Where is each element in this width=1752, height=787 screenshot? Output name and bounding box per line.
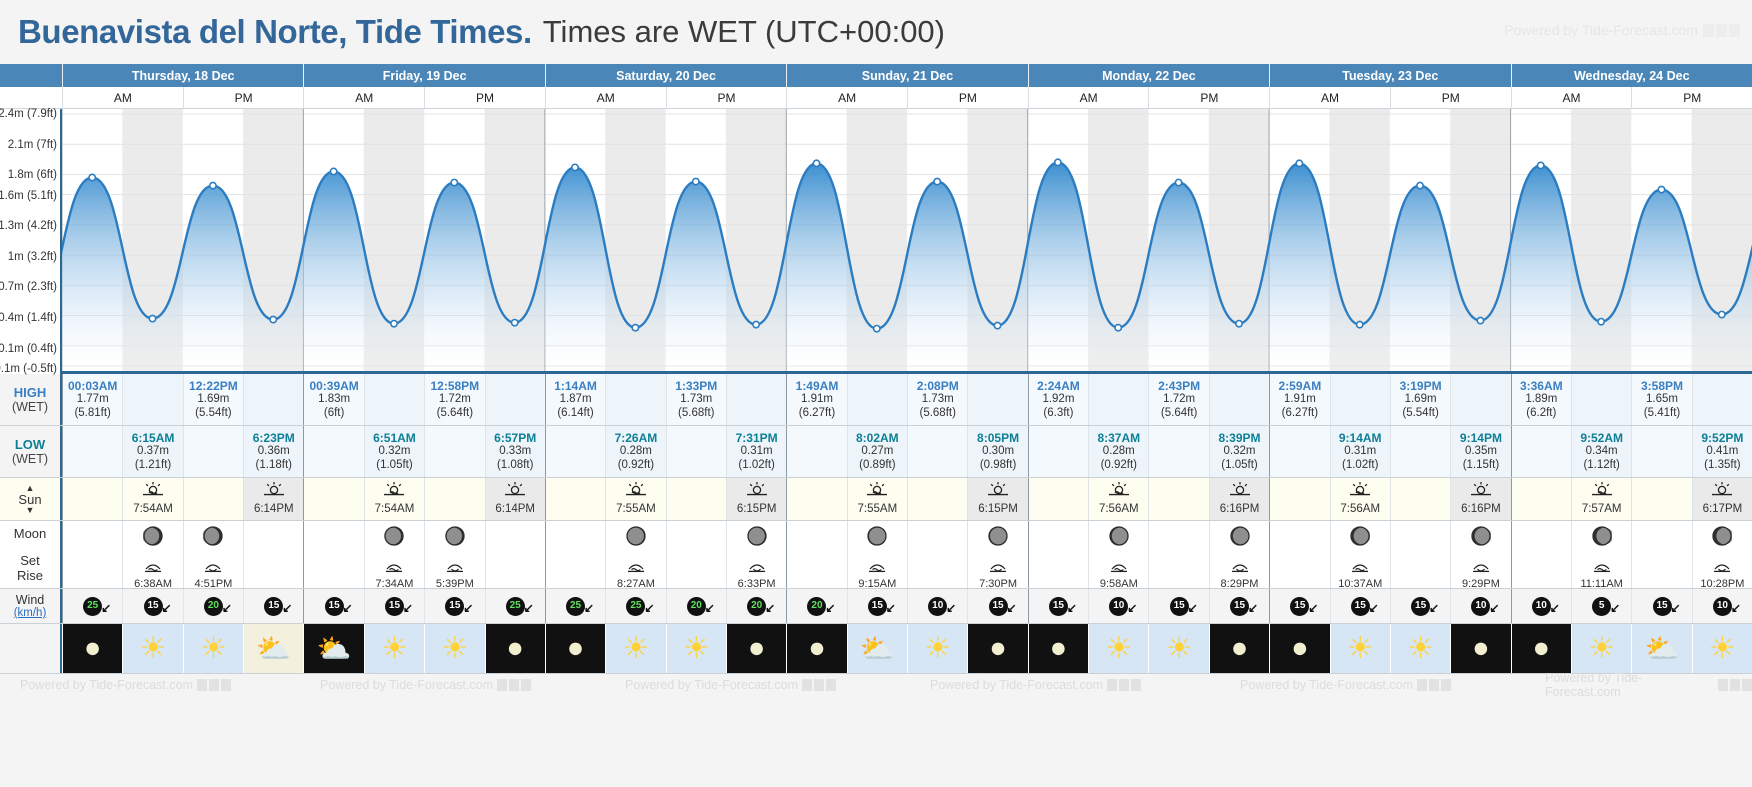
wind-direction-icon: ↙: [161, 601, 171, 615]
moon-cell-16: [1028, 521, 1088, 588]
low-tide-cell-26: [1631, 426, 1691, 477]
day-header-label: Thursday, 18 Dec: [132, 69, 235, 83]
halfday-header-pm-13: PM: [1631, 87, 1752, 108]
weather-cell-24: ●: [1511, 624, 1571, 673]
low-tide-cell-24: [1511, 426, 1571, 477]
low-tide-time: 9:52AM: [1580, 431, 1623, 445]
low-tide-cell-8: [545, 426, 605, 477]
weather-cell-10: ☀: [666, 624, 726, 673]
footer-flag-icons: [1417, 679, 1451, 691]
wind-speed-badge: 15↙: [1653, 597, 1672, 616]
wind-label: Wind (km/h): [0, 589, 62, 623]
low-tide-cell-7: 6:57PM0.33m(1.08ft): [485, 426, 545, 477]
wind-speed-value: 15: [1355, 600, 1366, 612]
low-tide-cell-3: 6:23PM0.36m(1.18ft): [243, 426, 303, 477]
wind-direction-icon: ↙: [1731, 601, 1741, 615]
sun-icon: ☀: [123, 624, 182, 673]
flag-icon: [1131, 679, 1141, 691]
low-tide-feet: (1.18ft): [256, 459, 292, 473]
high-tide-feet: (5.64ft): [1161, 407, 1197, 421]
high-tide-meters: 1.89m: [1525, 393, 1557, 407]
day-header-label: Saturday, 20 Dec: [616, 69, 716, 83]
sun-cell-16: [1028, 478, 1088, 520]
sun-icon: ☀: [908, 624, 967, 673]
low-tide-meters: 0.37m: [137, 445, 169, 459]
high-tide-feet: (5.68ft): [919, 407, 955, 421]
wind-label-text: Wind: [16, 593, 44, 607]
sun-cell-8: [545, 478, 605, 520]
wind-speed-badge: 15↙: [445, 597, 464, 616]
moon-cell-20: [1269, 521, 1329, 588]
weather-cell-18: ☀: [1148, 624, 1208, 673]
wind-direction-icon: ↙: [222, 601, 232, 615]
sunset-icon: [745, 481, 769, 502]
footer-powered-by-text: Powered by Tide-Forecast.com: [20, 678, 193, 692]
flag-icon: [1742, 679, 1752, 691]
low-tide-time: 9:52PM: [1701, 431, 1743, 445]
y-axis-tick-4: 1.3m (4.2ft): [0, 220, 57, 232]
wind-speed-value: 15: [268, 600, 279, 612]
wind-speed-badge: 25↙: [506, 597, 525, 616]
page-title: Buenavista del Norte, Tide Times.: [18, 13, 532, 51]
wind-speed-value: 10: [1717, 600, 1728, 612]
wind-cell-17: 10↙: [1088, 589, 1148, 623]
wind-speed-badge: 20↙: [747, 597, 766, 616]
wind-direction-icon: ↙: [1369, 601, 1379, 615]
wind-speed-badge: 15↙: [1230, 597, 1249, 616]
wind-speed-badge: 15↙: [385, 597, 404, 616]
low-tide-cell-6: [424, 426, 484, 477]
low-tide-meters: 0.27m: [861, 445, 893, 459]
sunset-icon: [503, 481, 527, 502]
wind-direction-icon: ↙: [403, 601, 413, 615]
powered-by-text: Powered by Tide-Forecast.com: [1504, 22, 1698, 38]
high-tide-cell-13: [847, 374, 907, 425]
moon-cell-6: 5:39PM: [424, 521, 484, 588]
flag-icon: [1703, 24, 1714, 37]
wind-cell-20: 15↙: [1269, 589, 1329, 623]
moon-phase-icon: [747, 526, 767, 551]
high-tide-feet: (5.54ft): [1402, 407, 1438, 421]
moon-cell-27: 10:28PM: [1692, 521, 1752, 588]
high-tide-cell-0: 00:03AM1.77m(5.81ft): [62, 374, 122, 425]
wind-cell-13: 15↙: [847, 589, 907, 623]
high-tide-cell-8: 1:14AM1.87m(6.14ft): [545, 374, 605, 425]
halfday-header-am-10: AM: [1269, 87, 1390, 108]
wind-speed-value: 15: [1174, 600, 1185, 612]
y-axis-tick-2: 1.8m (6ft): [8, 169, 57, 181]
high-tide-cell-12: 1:49AM1.91m(6.27ft): [786, 374, 846, 425]
moon-cell-3: [243, 521, 303, 588]
moon-set-icon: [1349, 560, 1371, 578]
low-tide-time: 8:37AM: [1097, 431, 1140, 445]
footer-watermark-3: Powered by Tide-Forecast.com: [930, 678, 1141, 692]
halfday-header-am-2: AM: [303, 87, 424, 108]
wind-direction-icon: ↙: [1550, 601, 1560, 615]
moon-icon: ●: [1029, 624, 1088, 673]
weather-cell-11: ●: [726, 624, 786, 673]
weather-cell-14: ☀: [907, 624, 967, 673]
low-tide-cell-17: 8:37AM0.28m(0.92ft): [1088, 426, 1148, 477]
high-tide-time: 1:49AM: [796, 379, 839, 393]
moon-rise-icon: [1470, 560, 1492, 578]
moon-cell-11: 6:33PM: [726, 521, 786, 588]
weather-cell-5: ☀: [364, 624, 424, 673]
flag-icon: [1417, 679, 1427, 691]
halfday-header-am-4: AM: [545, 87, 666, 108]
flag-icon: [814, 679, 824, 691]
sun-cell-17: 7:56AM: [1088, 478, 1148, 520]
flag-icon: [1107, 679, 1117, 691]
wind-unit-link[interactable]: (km/h): [14, 607, 47, 619]
low-tide-cell-11: 7:31PM0.31m(1.02ft): [726, 426, 786, 477]
high-tide-meters: 1.77m: [77, 393, 109, 407]
low-tide-feet: (1.02ft): [1342, 459, 1378, 473]
low-tide-meters: 0.41m: [1706, 445, 1738, 459]
high-tide-meters: 1.91m: [1284, 393, 1316, 407]
low-tide-row: LOW (WET) 6:15AM0.37m(1.21ft)6:23PM0.36m…: [0, 426, 1752, 478]
flag-icon: [1718, 679, 1728, 691]
sun-time: 7:55AM: [858, 503, 898, 517]
moon-icon: ●: [727, 624, 786, 673]
high-tide-cell-15: [967, 374, 1027, 425]
footer-flag-icons: [497, 679, 531, 691]
low-tide-feet: (1.12ft): [1583, 459, 1619, 473]
weather-cell-17: ☀: [1088, 624, 1148, 673]
chart-y-axis: 2.4m (7.9ft)2.1m (7ft)1.8m (6ft)1.6m (5.…: [0, 109, 62, 374]
wind-direction-icon: ↙: [1127, 601, 1137, 615]
low-tide-feet: (1.02ft): [738, 459, 774, 473]
weather-cell-4: ⛅: [303, 624, 363, 673]
flag-icon: [1730, 679, 1740, 691]
wind-direction-icon: ↙: [584, 601, 594, 615]
halfday-header-am-8: AM: [1028, 87, 1149, 108]
wind-speed-badge: 25↙: [83, 597, 102, 616]
sun-cell-27: 6:17PM: [1692, 478, 1752, 520]
low-tide-meters: 0.31m: [741, 445, 773, 459]
low-tide-time: 8:39PM: [1218, 431, 1260, 445]
halfday-header-pm-3: PM: [424, 87, 545, 108]
footer-powered-by-text: Powered by Tide-Forecast.com: [1545, 671, 1714, 699]
wind-cell-14: 10↙: [907, 589, 967, 623]
wind-speed-badge: 20↙: [687, 597, 706, 616]
low-tide-meters: 0.36m: [258, 445, 290, 459]
moon-phase-icon: [1350, 526, 1370, 551]
low-tide-label: LOW (WET): [0, 426, 62, 477]
wind-cell-12: 20↙: [786, 589, 846, 623]
low-tide-cell-4: [303, 426, 363, 477]
footer-powered-by-text: Powered by Tide-Forecast.com: [930, 678, 1103, 692]
low-tide-cell-18: [1148, 426, 1208, 477]
sun-down-arrow-icon: ▼: [26, 507, 35, 514]
moon-set-label: Set: [20, 553, 40, 568]
wind-direction-icon: ↙: [1610, 601, 1620, 615]
low-tide-meters: 0.35m: [1465, 445, 1497, 459]
y-axis-tick-3: 1.6m (5.1ft): [0, 190, 57, 202]
wind-direction-icon: ↙: [1007, 601, 1017, 615]
sun-cell-23: 6:16PM: [1450, 478, 1510, 520]
high-tide-time: 1:33PM: [675, 379, 717, 393]
moon-phase-icon: [445, 526, 465, 551]
flag-icon: [521, 679, 531, 691]
wind-speed-value: 15: [872, 600, 883, 612]
high-tide-label: HIGH (WET): [0, 374, 62, 425]
wind-speed-value: 5: [1599, 600, 1605, 612]
moon-set-icon: [1108, 560, 1130, 578]
flag-icon: [497, 679, 507, 691]
flag-icon: [1441, 679, 1451, 691]
wind-cell-7: 25↙: [485, 589, 545, 623]
weather-cell-23: ●: [1450, 624, 1510, 673]
sun-cloud-icon: ⛅: [1632, 624, 1691, 673]
wind-speed-badge: 15↙: [144, 597, 163, 616]
sun-time: 6:14PM: [254, 503, 294, 517]
moon-rise-icon: [202, 560, 224, 578]
wind-speed-badge: 15↙: [264, 597, 283, 616]
high-tide-meters: 1.69m: [197, 393, 229, 407]
high-tide-feet: (5.81ft): [74, 407, 110, 421]
sun-cell-19: 6:16PM: [1209, 478, 1269, 520]
low-tide-meters: 0.34m: [1586, 445, 1618, 459]
tide-curve-plot: [62, 109, 1752, 374]
moon-phase-icon: [203, 526, 223, 551]
high-tide-meters: 1.87m: [560, 393, 592, 407]
wind-direction-icon: ↙: [1308, 601, 1318, 615]
low-tide-cell-15: 8:05PM0.30m(0.98ft): [967, 426, 1027, 477]
powered-by-watermark-top: Powered by Tide-Forecast.com: [1504, 22, 1740, 38]
sun-cell-4: [303, 478, 363, 520]
wind-cell-19: 15↙: [1209, 589, 1269, 623]
wind-speed-value: 15: [329, 600, 340, 612]
high-tide-feet: (6.3ft): [1043, 407, 1073, 421]
high-tide-meters: 1.72m: [439, 393, 471, 407]
high-tide-time: 2:24AM: [1037, 379, 1080, 393]
page-header: Buenavista del Norte, Tide Times. Times …: [0, 0, 1752, 64]
moon-cell-21: 10:37AM: [1330, 521, 1390, 588]
high-tide-cell-9: [605, 374, 665, 425]
low-tide-time: 7:26AM: [615, 431, 658, 445]
wind-cell-18: 15↙: [1148, 589, 1208, 623]
tide-forecast-page: Buenavista del Norte, Tide Times. Times …: [0, 0, 1752, 787]
low-tide-label-tz: (WET): [12, 452, 48, 466]
sun-time: 6:17PM: [1703, 503, 1743, 517]
wind-speed-badge: 20↙: [807, 597, 826, 616]
weather-cell-3: ⛅: [243, 624, 303, 673]
wind-direction-icon: ↙: [825, 601, 835, 615]
halfday-header-am-6: AM: [786, 87, 907, 108]
flag-icon: [209, 679, 219, 691]
low-tide-time: 7:31PM: [736, 431, 778, 445]
moon-cell-23: 9:29PM: [1450, 521, 1510, 588]
weather-cell-19: ●: [1209, 624, 1269, 673]
high-tide-cell-1: [122, 374, 182, 425]
day-header-label: Tuesday, 23 Dec: [1342, 69, 1438, 83]
weather-cell-22: ☀: [1390, 624, 1450, 673]
weather-cell-15: ●: [967, 624, 1027, 673]
high-tide-time: 2:43PM: [1158, 379, 1200, 393]
sun-time: 7:55AM: [616, 503, 656, 517]
wind-speed-badge: 15↙: [1049, 597, 1068, 616]
sun-cell-13: 7:55AM: [847, 478, 907, 520]
day-header-label: Wednesday, 24 Dec: [1574, 69, 1690, 83]
sun-time: 7:56AM: [1099, 503, 1139, 517]
high-tide-cell-2: 12:22PM1.69m(5.54ft): [183, 374, 243, 425]
moon-phase-icon: [1592, 526, 1612, 551]
high-tide-time: 3:58PM: [1641, 379, 1683, 393]
footer-flag-icons: [802, 679, 836, 691]
wind-cell-15: 15↙: [967, 589, 1027, 623]
moon-cell-19: 8:29PM: [1209, 521, 1269, 588]
low-tide-feet: (1.08ft): [497, 459, 533, 473]
sun-label: ▲ Sun ▼: [0, 478, 62, 520]
weather-cell-26: ⛅: [1631, 624, 1691, 673]
halfday-header-am-12: AM: [1511, 87, 1632, 108]
low-tide-cell-10: [666, 426, 726, 477]
y-axis-tick-0: 2.4m (7.9ft): [0, 108, 57, 120]
low-tide-meters: 0.31m: [1344, 445, 1376, 459]
wind-cell-4: 15↙: [303, 589, 363, 623]
wind-speed-value: 20: [811, 600, 822, 612]
low-tide-feet: (0.92ft): [1101, 459, 1137, 473]
wind-speed-badge: 15↙: [1290, 597, 1309, 616]
high-tide-cell-26: 3:58PM1.65m(5.41ft): [1631, 374, 1691, 425]
moon-rise-icon: [1711, 560, 1733, 578]
high-tide-feet: (6.14ft): [557, 407, 593, 421]
day-header-4: Monday, 22 Dec: [1028, 64, 1269, 87]
moon-phase-icon: [384, 526, 404, 551]
low-tide-cell-20: [1269, 426, 1329, 477]
low-tide-cell-16: [1028, 426, 1088, 477]
sun-icon: ☀: [1572, 624, 1631, 673]
moon-rise-icon: [987, 560, 1009, 578]
low-tide-cell-27: 9:52PM0.41m(1.35ft): [1692, 426, 1752, 477]
low-tide-time: 9:14PM: [1460, 431, 1502, 445]
day-header-2: Saturday, 20 Dec: [545, 64, 786, 87]
moon-rise-icon: [444, 560, 466, 578]
sunrise-icon: [1107, 481, 1131, 502]
sun-time: 6:15PM: [978, 503, 1018, 517]
sun-up-arrow-icon: ▲: [26, 485, 35, 492]
high-tide-feet: (5.54ft): [195, 407, 231, 421]
wind-cell-22: 15↙: [1390, 589, 1450, 623]
sun-icon: ☀: [184, 624, 243, 673]
wind-speed-value: 15: [449, 600, 460, 612]
high-tide-time: 3:19PM: [1400, 379, 1442, 393]
wind-speed-value: 20: [208, 600, 219, 612]
wind-speed-badge: 15↙: [989, 597, 1008, 616]
wind-direction-icon: ↙: [705, 601, 715, 615]
wind-cell-2: 20↙: [183, 589, 243, 623]
moon-set-icon: [383, 560, 405, 578]
high-tide-meters: 1.72m: [1163, 393, 1195, 407]
sun-cell-10: [666, 478, 726, 520]
moon-cell-4: [303, 521, 363, 588]
low-tide-cell-2: [183, 426, 243, 477]
wind-speed-badge: 20↙: [204, 597, 223, 616]
sun-icon: ☀: [1693, 624, 1752, 673]
high-tide-cell-17: [1088, 374, 1148, 425]
moon-set-icon: [625, 560, 647, 578]
moon-set-icon: [142, 560, 164, 578]
weather-cell-16: ●: [1028, 624, 1088, 673]
low-tide-cell-5: 6:51AM0.32m(1.05ft): [364, 426, 424, 477]
low-tide-cell-22: [1390, 426, 1450, 477]
wind-speed-value: 10: [1475, 600, 1486, 612]
sunset-icon: [1710, 481, 1734, 502]
wind-speed-badge: 10↙: [1109, 597, 1128, 616]
wind-speed-value: 25: [87, 600, 98, 612]
wind-cell-11: 20↙: [726, 589, 786, 623]
low-tide-feet: (1.35ft): [1704, 459, 1740, 473]
wind-direction-icon: ↙: [1489, 601, 1499, 615]
sun-cell-5: 7:54AM: [364, 478, 424, 520]
flag-icon: [1729, 24, 1740, 37]
wind-direction-icon: ↙: [1067, 601, 1077, 615]
wind-speed-value: 10: [932, 600, 943, 612]
wind-speed-badge: 10↙: [928, 597, 947, 616]
low-tide-cell-9: 7:26AM0.28m(0.92ft): [605, 426, 665, 477]
sun-time: 6:16PM: [1220, 503, 1260, 517]
high-tide-cell-20: 2:59AM1.91m(6.27ft): [1269, 374, 1329, 425]
high-tide-meters: 1.91m: [801, 393, 833, 407]
wind-speed-value: 10: [1113, 600, 1124, 612]
wind-speed-value: 15: [1656, 600, 1667, 612]
wind-cell-26: 15↙: [1631, 589, 1691, 623]
high-tide-cell-27: [1692, 374, 1752, 425]
wind-direction-icon: ↙: [101, 601, 111, 615]
high-tide-label-text: HIGH: [14, 385, 47, 400]
moon-cell-14: [907, 521, 967, 588]
high-tide-feet: (5.64ft): [437, 407, 473, 421]
low-tide-time: 8:05PM: [977, 431, 1019, 445]
high-tide-cell-6: 12:58PM1.72m(5.64ft): [424, 374, 484, 425]
sun-cell-18: [1148, 478, 1208, 520]
moon-cell-26: [1631, 521, 1691, 588]
y-axis-tick-1: 2.1m (7ft): [8, 139, 57, 151]
sun-cell-26: [1631, 478, 1691, 520]
low-tide-meters: 0.32m: [378, 445, 410, 459]
high-tide-time: 1:14AM: [554, 379, 597, 393]
wind-speed-value: 15: [993, 600, 1004, 612]
wind-speed-badge: 25↙: [566, 597, 585, 616]
wind-speed-value: 10: [1536, 600, 1547, 612]
moon-cell-25: 11:11AM: [1571, 521, 1631, 588]
high-tide-feet: (5.41ft): [1644, 407, 1680, 421]
moon-rise-icon: [1229, 560, 1251, 578]
day-header-1: Friday, 19 Dec: [303, 64, 544, 87]
footer-watermarks: Powered by Tide-Forecast.comPowered by T…: [0, 674, 1752, 696]
high-tide-cell-18: 2:43PM1.72m(5.64ft): [1148, 374, 1208, 425]
sun-icon: ☀: [667, 624, 726, 673]
low-tide-time: 6:23PM: [253, 431, 295, 445]
weather-cell-2: ☀: [183, 624, 243, 673]
wind-cell-21: 15↙: [1330, 589, 1390, 623]
low-tide-feet: (0.92ft): [618, 459, 654, 473]
day-header-row: Thursday, 18 DecFriday, 19 DecSaturday, …: [0, 64, 1752, 87]
weather-row: ●☀☀⛅⛅☀☀●●☀☀●●⛅☀●●☀☀●●☀☀●●☀⛅☀: [0, 624, 1752, 674]
day-header-6: Wednesday, 24 Dec: [1511, 64, 1752, 87]
sun-cell-20: [1269, 478, 1329, 520]
high-tide-cell-16: 2:24AM1.92m(6.3ft): [1028, 374, 1088, 425]
footer-watermark-2: Powered by Tide-Forecast.com: [625, 678, 836, 692]
high-tide-cell-4: 00:39AM1.83m(6ft): [303, 374, 363, 425]
high-tide-meters: 1.92m: [1042, 393, 1074, 407]
wind-row: Wind (km/h) 25↙15↙20↙15↙15↙15↙15↙25↙25↙2…: [0, 589, 1752, 624]
low-tide-feet: (1.05ft): [1221, 459, 1257, 473]
moon-phase-icon: [626, 526, 646, 551]
sun-cell-3: 6:14PM: [243, 478, 303, 520]
halfday-header-row: AMPMAMPMAMPMAMPMAMPMAMPMAMPM: [0, 87, 1752, 109]
